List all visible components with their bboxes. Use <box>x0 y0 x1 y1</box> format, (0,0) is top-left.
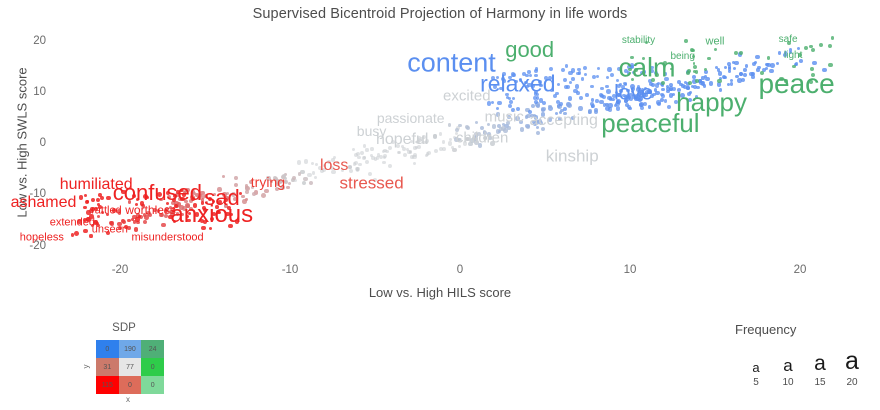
scatter-point <box>812 61 816 65</box>
scatter-point <box>579 96 583 100</box>
scatter-point <box>714 48 717 51</box>
scatter-point <box>728 67 732 71</box>
scatter-point <box>245 190 249 194</box>
scatter-point <box>743 68 746 71</box>
scatter-point <box>382 161 385 164</box>
scatter-point <box>96 198 100 202</box>
sdp-legend-title: SDP <box>58 322 190 334</box>
scatter-point <box>568 71 572 75</box>
scatter-point <box>563 78 567 82</box>
word-label: peaceful <box>601 110 699 136</box>
word-label: relaxed <box>480 72 555 95</box>
word-label: misunderstood <box>132 233 204 244</box>
word-label: humiliated <box>60 177 133 193</box>
scatter-point <box>749 72 753 76</box>
word-label: unseen <box>92 225 128 236</box>
scatter-point <box>831 36 835 40</box>
scatter-point <box>804 46 808 50</box>
scatter-point <box>312 171 315 174</box>
scatter-point <box>409 151 412 154</box>
scatter-point <box>448 123 451 126</box>
frequency-glyph: a <box>773 346 803 374</box>
scatter-point <box>568 96 572 100</box>
scatter-point <box>578 71 582 75</box>
scatter-point <box>563 107 567 111</box>
y-axis-ticks: 20100-10-20 <box>0 0 46 290</box>
scatter-point <box>534 100 538 104</box>
chart-root: Supervised Bicentroid Projection of Harm… <box>0 0 880 410</box>
scatter-point <box>661 88 664 91</box>
scatter-point <box>252 192 256 196</box>
scatter-point <box>581 77 584 80</box>
scatter-point <box>600 87 603 90</box>
scatter-panel: contentgoodstabilitywellsafelightbeingca… <box>52 22 868 268</box>
y-tick-label: 0 <box>6 137 46 149</box>
sdp-legend-x-label: x <box>126 395 130 404</box>
word-label: good <box>505 39 554 61</box>
x-axis-label: Low vs. High HILS score <box>280 285 600 300</box>
scatter-point <box>734 61 739 66</box>
word-label: excited <box>443 88 491 103</box>
scatter-point <box>661 94 665 98</box>
scatter-point <box>695 79 699 83</box>
word-label: extended <box>50 218 95 229</box>
word-label: accepting <box>529 113 598 129</box>
scatter-point <box>222 175 225 178</box>
scatter-point <box>767 56 770 59</box>
scatter-point <box>383 154 387 158</box>
scatter-point <box>370 147 374 151</box>
sdp-legend-cell: 31 <box>96 358 119 376</box>
scatter-point <box>819 43 823 47</box>
scatter-point <box>701 76 704 79</box>
scatter-point <box>303 177 307 181</box>
scatter-point <box>709 81 713 85</box>
word-label: rattled <box>91 206 122 217</box>
scatter-point <box>718 71 722 75</box>
scatter-point <box>491 101 494 104</box>
scatter-point <box>717 79 721 83</box>
scatter-point <box>371 156 374 159</box>
word-label: kinship <box>546 147 599 164</box>
scatter-point <box>357 156 361 160</box>
scatter-point <box>302 181 306 185</box>
scatter-point <box>363 156 366 159</box>
frequency-glyph: a <box>805 346 835 374</box>
scatter-point <box>575 84 579 88</box>
scatter-point <box>605 85 608 88</box>
scatter-point <box>135 217 139 221</box>
scatter-point <box>557 83 560 86</box>
scatter-point <box>569 81 572 84</box>
scatter-point <box>776 62 779 65</box>
sdp-legend-cell: 77 <box>119 358 142 376</box>
scatter-point <box>542 101 546 105</box>
scatter-point <box>442 140 445 143</box>
scatter-point <box>687 69 691 73</box>
sdp-legend-cell: 0 <box>96 340 119 358</box>
scatter-point <box>578 106 582 110</box>
scatter-point <box>475 121 478 124</box>
scatter-point <box>743 73 747 77</box>
word-label: children <box>456 130 509 145</box>
scatter-point <box>458 124 462 128</box>
frequency-glyph: a <box>837 346 867 374</box>
scatter-point <box>434 149 438 153</box>
scatter-point <box>292 176 296 180</box>
scatter-point <box>561 68 565 72</box>
word-label: hopeful <box>376 132 429 148</box>
scatter-point <box>314 176 317 179</box>
scatter-point <box>567 103 572 108</box>
frequency-size-label: 5 <box>741 377 771 388</box>
word-label: stressed <box>339 175 403 192</box>
scatter-point <box>439 132 443 136</box>
scatter-point <box>83 206 87 210</box>
sdp-legend: SDP 0190243177011500 y x <box>58 322 208 408</box>
scatter-point <box>84 194 87 197</box>
scatter-point <box>597 67 600 70</box>
scatter-point <box>590 85 594 89</box>
sdp-legend-y-label: y <box>82 365 91 369</box>
scatter-point <box>585 93 589 97</box>
frequency-legend-item: a20 <box>837 346 867 388</box>
scatter-point <box>127 219 131 223</box>
scatter-point <box>778 51 782 55</box>
page-title: Supervised Bicentroid Projection of Harm… <box>0 6 880 22</box>
scatter-point <box>730 82 733 85</box>
sdp-legend-cell: 190 <box>119 340 142 358</box>
scatter-point <box>739 51 743 55</box>
sdp-legend-grid: 0190243177011500 <box>96 340 164 394</box>
scatter-point <box>83 229 88 234</box>
scatter-point <box>91 198 95 202</box>
scatter-point <box>452 148 456 152</box>
sdp-legend-cell: 0 <box>141 358 164 376</box>
frequency-legend-item: a15 <box>805 346 835 388</box>
word-label: anxious <box>170 203 253 227</box>
scatter-point <box>717 82 721 86</box>
scatter-point <box>356 169 360 173</box>
scatter-point <box>583 66 587 70</box>
scatter-point <box>693 65 697 69</box>
scatter-point <box>79 195 84 200</box>
sdp-legend-cell: 115 <box>96 376 119 394</box>
scatter-point <box>309 181 313 185</box>
scatter-point <box>559 102 563 106</box>
scatter-point <box>71 233 74 236</box>
sdp-legend-cell: 0 <box>119 376 142 394</box>
scatter-point <box>584 73 587 76</box>
word-label: loss <box>320 158 348 174</box>
word-label: love <box>614 82 653 103</box>
scatter-point <box>608 103 612 107</box>
frequency-legend-item: a10 <box>773 346 803 388</box>
scatter-point <box>592 75 596 79</box>
word-label: peace <box>758 70 834 98</box>
scatter-point <box>741 78 745 82</box>
word-label: well <box>706 36 725 47</box>
scatter-point <box>398 151 402 155</box>
scatter-point <box>98 193 102 197</box>
scatter-point <box>298 172 302 176</box>
scatter-point <box>684 39 688 43</box>
scatter-point <box>669 93 674 98</box>
scatter-point <box>610 73 614 77</box>
scatter-point <box>607 67 611 71</box>
scatter-point <box>664 99 667 102</box>
word-label: passionate <box>377 111 445 125</box>
scatter-point <box>733 67 736 70</box>
scatter-point <box>365 160 369 164</box>
scatter-point <box>571 77 575 81</box>
y-tick-label: 20 <box>6 35 46 47</box>
frequency-size-label: 20 <box>837 377 867 388</box>
scatter-point <box>349 169 353 173</box>
scatter-point <box>536 131 540 135</box>
scatter-point <box>497 101 501 105</box>
word-label: safe <box>779 35 798 45</box>
scatter-point <box>365 148 368 151</box>
scatter-point <box>353 162 357 166</box>
scatter-point <box>576 91 580 95</box>
word-label: music <box>485 110 524 125</box>
scatter-point <box>74 231 79 236</box>
scatter-point <box>509 100 513 104</box>
scatter-point <box>427 151 431 155</box>
scatter-point <box>724 66 728 70</box>
frequency-size-label: 15 <box>805 377 835 388</box>
word-label: light <box>784 51 802 61</box>
scatter-point <box>358 163 361 166</box>
scatter-point <box>412 155 416 159</box>
scatter-point <box>688 81 692 85</box>
scatter-point <box>599 100 603 104</box>
scatter-point <box>609 97 612 100</box>
scatter-point <box>388 164 392 168</box>
frequency-legend-title: Frequency <box>735 322 796 337</box>
scatter-point <box>297 160 301 164</box>
scatter-point <box>811 48 815 52</box>
scatter-point <box>606 89 611 94</box>
frequency-legend-item: a5 <box>741 346 771 388</box>
scatter-point <box>311 162 314 165</box>
scatter-point <box>723 76 726 79</box>
y-tick-label: 10 <box>6 86 46 98</box>
sdp-legend-cell: 0 <box>141 376 164 394</box>
word-label: stability <box>622 36 655 46</box>
scatter-point <box>286 186 289 189</box>
scatter-point <box>413 162 416 165</box>
scatter-point <box>433 134 437 138</box>
scatter-point <box>520 127 524 131</box>
scatter-point <box>525 115 529 119</box>
scatter-point <box>565 64 568 67</box>
word-label: trying <box>251 175 285 189</box>
scatter-point <box>707 57 710 60</box>
scatter-point <box>591 104 595 108</box>
word-label: ashamed <box>11 195 77 211</box>
word-label: hopeless <box>20 232 64 243</box>
scatter-point <box>679 83 682 86</box>
sdp-legend-cell: 24 <box>141 340 164 358</box>
scatter-point <box>754 61 757 64</box>
word-label: calm <box>618 55 675 82</box>
scatter-point <box>261 193 266 198</box>
scatter-point <box>385 150 388 153</box>
scatter-point <box>161 223 166 228</box>
scatter-point <box>755 55 759 59</box>
scatter-point <box>406 148 409 151</box>
scatter-point <box>439 147 443 151</box>
scatter-point <box>403 153 407 157</box>
scatter-point <box>531 104 535 108</box>
frequency-glyph: a <box>741 346 771 374</box>
scatter-point <box>655 83 659 87</box>
scatter-point <box>828 44 832 48</box>
scatter-point <box>595 99 599 103</box>
scatter-point <box>288 182 291 185</box>
scatter-point <box>234 176 238 180</box>
scatter-point <box>304 159 308 163</box>
scatter-point <box>656 100 661 105</box>
frequency-size-label: 10 <box>773 377 803 388</box>
word-label: worthless <box>125 204 176 216</box>
scatter-point <box>360 151 364 155</box>
scatter-point <box>106 196 111 201</box>
frequency-legend: Frequency a5a10a15a20 <box>735 322 865 402</box>
scatter-point <box>448 141 452 145</box>
scatter-point <box>732 61 735 64</box>
scatter-point <box>143 220 147 224</box>
scatter-point <box>606 76 609 79</box>
scatter-point <box>596 75 599 78</box>
scatter-point <box>352 148 355 151</box>
